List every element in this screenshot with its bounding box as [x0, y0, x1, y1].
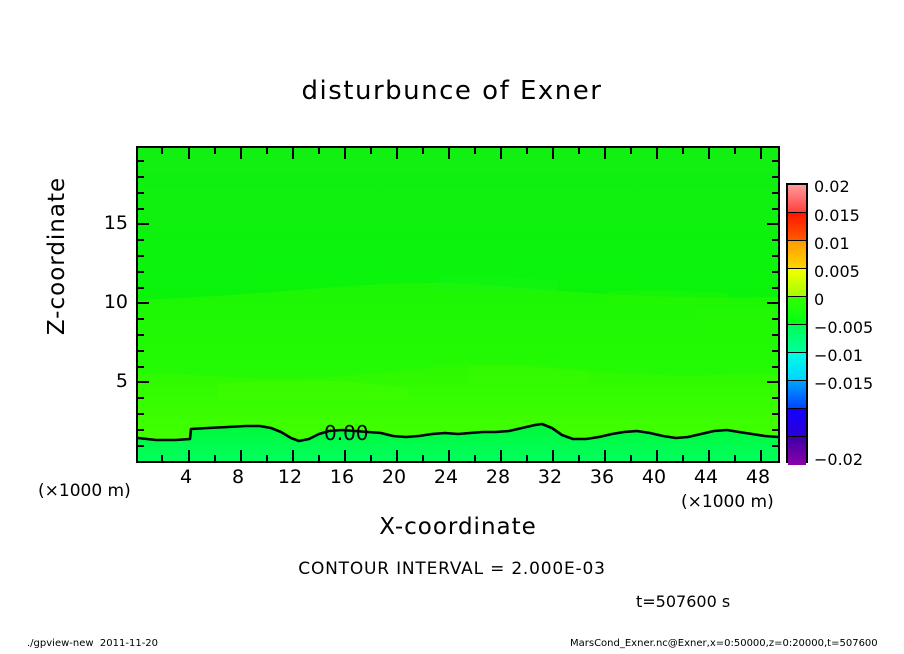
y-tick-right-minor — [772, 366, 778, 368]
page-title: disturbunce of Exner — [0, 76, 904, 106]
colorbar-band — [788, 297, 806, 325]
y-tick-right-minor — [772, 318, 778, 320]
y-tick-right-minor — [772, 413, 778, 415]
colorbar-label: 0.02 — [814, 177, 850, 196]
y-tick-label: 10 — [88, 291, 128, 313]
y-tick-minor — [138, 160, 144, 162]
plot-canvas: disturbunce of Exner — [0, 0, 904, 654]
colorbar-label: 0.005 — [814, 262, 860, 281]
y-tick-right-minor — [772, 255, 778, 257]
x-tick-top-minor — [526, 148, 528, 154]
y-tick-right-minor — [772, 429, 778, 431]
x-tick-top-major — [552, 148, 554, 159]
y-tick-right-minor — [772, 271, 778, 273]
y-tick-minor — [138, 429, 144, 431]
y-tick-right-minor — [772, 334, 778, 336]
x-tick-label: 28 — [476, 466, 520, 488]
y-tick-major — [138, 223, 149, 225]
x-tick-major — [344, 450, 346, 461]
x-tick-minor — [266, 455, 268, 461]
x-tick-label: 36 — [580, 466, 624, 488]
colorbar-band — [788, 241, 806, 269]
y-tick-minor — [138, 366, 144, 368]
x-tick-major — [500, 450, 502, 461]
x-tick-minor — [526, 455, 528, 461]
x-tick-major — [240, 450, 242, 461]
x-tick-minor — [370, 455, 372, 461]
y-tick-major — [138, 302, 149, 304]
y-tick-right-minor — [772, 176, 778, 178]
colorbar-label: −0.005 — [814, 318, 873, 337]
x-tick-label: 44 — [684, 466, 728, 488]
colorbar-band — [788, 185, 806, 213]
y-tick-minor — [138, 334, 144, 336]
x-tick-label: 40 — [632, 466, 676, 488]
x-tick-top-major — [344, 148, 346, 159]
x-tick-top-minor — [474, 148, 476, 154]
y-axis-title: Z-coordinate — [44, 156, 70, 356]
y-tick-minor — [138, 350, 144, 352]
y-tick-label: 15 — [88, 212, 128, 234]
y-tick-right-minor — [772, 160, 778, 162]
colorbar-band — [788, 353, 806, 381]
x-tick-minor — [630, 455, 632, 461]
x-tick-top-major — [292, 148, 294, 159]
x-tick-top-minor — [422, 148, 424, 154]
x-tick-top-major — [760, 148, 762, 159]
y-tick-right-minor — [772, 287, 778, 289]
colorbar-band — [788, 437, 806, 465]
y-tick-minor — [138, 318, 144, 320]
y-tick-minor — [138, 271, 144, 273]
x-tick-top-minor — [578, 148, 580, 154]
x-tick-top-minor — [161, 148, 163, 154]
x-tick-top-major — [708, 148, 710, 159]
colorbar-band — [788, 325, 806, 353]
y-tick-minor — [138, 192, 144, 194]
x-tick-top-major — [240, 148, 242, 159]
y-tick-label: 5 — [88, 370, 128, 392]
x-tick-major — [708, 450, 710, 461]
y-tick-minor — [138, 239, 144, 241]
x-tick-major — [760, 450, 762, 461]
x-tick-label: 16 — [320, 466, 364, 488]
y-tick-minor — [138, 445, 144, 447]
contour-plot-area: 0.00 — [136, 146, 780, 463]
x-tick-minor — [474, 455, 476, 461]
y-tick-right-major — [767, 223, 778, 225]
y-tick-minor — [138, 176, 144, 178]
x-tick-minor — [422, 455, 424, 461]
x-tick-top-minor — [682, 148, 684, 154]
x-tick-minor — [214, 455, 216, 461]
time-stamp: t=507600 s — [636, 592, 730, 611]
x-tick-top-major — [396, 148, 398, 159]
contour-level-label: 0.00 — [324, 421, 369, 445]
colorbar-band — [788, 213, 806, 241]
x-tick-top-major — [448, 148, 450, 159]
y-tick-right-minor — [772, 239, 778, 241]
x-tick-top-minor — [214, 148, 216, 154]
y-tick-right-minor — [772, 192, 778, 194]
y-tick-right-minor — [772, 397, 778, 399]
x-tick-label: 12 — [268, 466, 312, 488]
x-tick-top-minor — [734, 148, 736, 154]
x-tick-major — [292, 450, 294, 461]
contour-interval-note: CONTOUR INTERVAL = 2.000E-03 — [0, 559, 904, 579]
x-tick-minor — [734, 455, 736, 461]
colorbar-label: 0.01 — [814, 234, 850, 253]
colorbar-band — [788, 409, 806, 437]
colorbar-label: 0.015 — [814, 206, 860, 225]
x-tick-major — [552, 450, 554, 461]
x-tick-top-minor — [318, 148, 320, 154]
x-tick-label: 32 — [528, 466, 572, 488]
y-tick-minor — [138, 287, 144, 289]
x-tick-minor — [318, 455, 320, 461]
x-unit-label-left: (×1000 m) — [38, 481, 131, 501]
x-tick-minor — [161, 455, 163, 461]
x-tick-label: 24 — [424, 466, 468, 488]
y-tick-right-major — [767, 381, 778, 383]
x-tick-label: 8 — [216, 466, 260, 488]
footer-command: ./gpview-new 2011-11-20 — [27, 638, 158, 649]
y-tick-right-minor — [772, 445, 778, 447]
x-tick-top-minor — [630, 148, 632, 154]
x-tick-top-major — [188, 148, 190, 159]
x-tick-major — [188, 450, 190, 461]
y-tick-right-major — [767, 302, 778, 304]
y-tick-right-minor — [772, 350, 778, 352]
colorbar — [786, 183, 808, 463]
x-tick-minor — [578, 455, 580, 461]
x-tick-top-major — [604, 148, 606, 159]
colorbar-label: −0.02 — [814, 450, 863, 469]
y-tick-minor — [138, 397, 144, 399]
x-tick-major — [448, 450, 450, 461]
contour-field: 0.00 — [138, 148, 778, 461]
x-tick-label: 48 — [736, 466, 780, 488]
colorbar-label: −0.015 — [814, 374, 873, 393]
x-tick-label: 4 — [164, 466, 208, 488]
footer-source: MarsCond_Exner.nc@Exner,x=0:50000,z=0:20… — [570, 638, 878, 649]
x-tick-top-major — [500, 148, 502, 159]
y-tick-right-minor — [772, 208, 778, 210]
x-tick-top-major — [656, 148, 658, 159]
x-tick-top-minor — [266, 148, 268, 154]
x-tick-minor — [682, 455, 684, 461]
y-tick-minor — [138, 413, 144, 415]
x-tick-major — [656, 450, 658, 461]
x-tick-major — [396, 450, 398, 461]
colorbar-band — [788, 269, 806, 297]
x-tick-top-minor — [370, 148, 372, 154]
y-tick-minor — [138, 208, 144, 210]
colorbar-label: 0 — [814, 290, 824, 309]
x-tick-major — [604, 450, 606, 461]
y-tick-minor — [138, 255, 144, 257]
x-unit-label-right: (×1000 m) — [681, 492, 774, 512]
y-tick-major — [138, 381, 149, 383]
x-axis-title: X-coordinate — [136, 514, 780, 540]
x-tick-label: 20 — [372, 466, 416, 488]
colorbar-band — [788, 381, 806, 409]
colorbar-label: −0.01 — [814, 346, 863, 365]
